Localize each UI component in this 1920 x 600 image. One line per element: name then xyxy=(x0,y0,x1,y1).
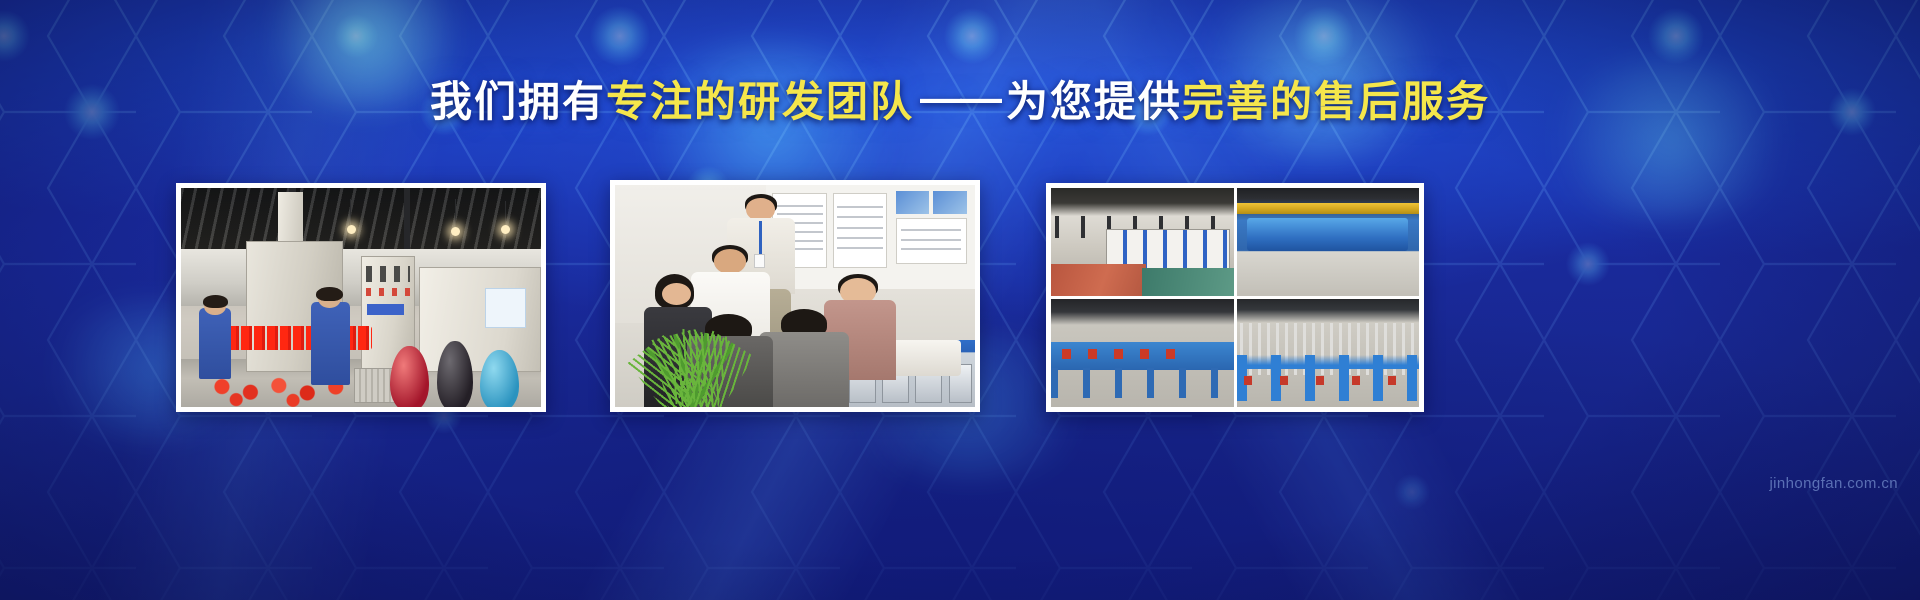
machine-label-panel xyxy=(485,288,526,327)
poster-line xyxy=(901,229,962,231)
photo-image-production-line xyxy=(181,188,541,407)
red-floor-strip xyxy=(1051,264,1146,296)
collage-cell-hanging-line xyxy=(1237,299,1420,407)
factory-line-illustration xyxy=(181,188,541,407)
person-lanyard xyxy=(759,221,762,257)
poster-line xyxy=(837,247,883,249)
poster-line xyxy=(901,248,962,250)
ceiling-lamp xyxy=(347,225,356,234)
red-parts-row xyxy=(1062,349,1190,360)
photo-card-team-meeting[interactable] xyxy=(610,180,980,412)
photo-card-production-line[interactable] xyxy=(176,183,546,412)
person-head xyxy=(662,283,691,305)
headline-segment-plain-1: 我们拥有 xyxy=(430,78,606,125)
potted-plant xyxy=(622,332,716,407)
photo-image-workshop-collage xyxy=(1051,188,1419,407)
poster-wall xyxy=(766,185,975,289)
poster-line xyxy=(837,227,883,229)
promo-banner: 我们拥有专注的研发团队——为您提供完善的售后服务 xyxy=(0,0,1920,600)
poster-line xyxy=(777,213,823,215)
control-knobs xyxy=(366,266,410,281)
green-floor-strip xyxy=(1142,268,1233,296)
person-head xyxy=(746,198,775,220)
roof-structure xyxy=(181,188,541,254)
photo-card-workshop-collage[interactable] xyxy=(1046,183,1424,412)
poster-line xyxy=(837,216,883,218)
poster-line xyxy=(837,237,883,239)
headline-segment-plain-2: 为您提供 xyxy=(1006,78,1182,125)
workshop-collage xyxy=(1051,188,1419,407)
photo-image-team-meeting xyxy=(615,185,975,407)
worker-figure xyxy=(311,302,351,385)
poster-image xyxy=(933,191,966,214)
person-badge xyxy=(754,254,765,268)
side-machine xyxy=(419,267,541,372)
yellow-pipe xyxy=(1237,203,1420,214)
product-vase-dark xyxy=(437,341,473,407)
collage-cell-workshop-hall xyxy=(1051,188,1234,296)
lamp-stem xyxy=(455,199,456,227)
worker-figure xyxy=(199,308,231,378)
person-head xyxy=(714,249,746,273)
conveyor-legs xyxy=(1051,368,1234,398)
lamp-stem xyxy=(350,199,351,225)
headline-dash: —— xyxy=(914,74,1006,122)
poster-line xyxy=(837,206,883,208)
photo-gallery xyxy=(0,183,1920,413)
poster-line xyxy=(777,205,823,207)
collage-cell-conveyor xyxy=(1051,299,1234,407)
worker-hair xyxy=(203,295,228,308)
cabinet-sticker xyxy=(367,304,403,315)
red-product-conveyor xyxy=(228,326,372,350)
headline-segment-accent-2: 完善的售后服务 xyxy=(1182,78,1490,125)
headline-container: 我们拥有专注的研发团队——为您提供完善的售后服务 xyxy=(0,78,1920,126)
collage-cell-blue-tunnel xyxy=(1237,188,1420,296)
red-fixtures xyxy=(1244,376,1408,386)
indicator-lights xyxy=(366,288,410,296)
page-title: 我们拥有专注的研发团队——为您提供完善的售后服务 xyxy=(430,78,1490,126)
lamp-stem xyxy=(505,201,506,225)
poster-line xyxy=(901,239,962,241)
blue-tunnel-oven xyxy=(1247,218,1408,250)
site-watermark: jinhongfan.com.cn xyxy=(1769,475,1898,492)
worker-hair xyxy=(316,287,343,301)
poster-diagram xyxy=(896,218,967,264)
poster-image xyxy=(896,191,929,214)
headline-segment-accent-1: 专注的研发团队 xyxy=(606,78,914,125)
poster-chart xyxy=(833,193,887,268)
meeting-illustration xyxy=(615,185,975,407)
